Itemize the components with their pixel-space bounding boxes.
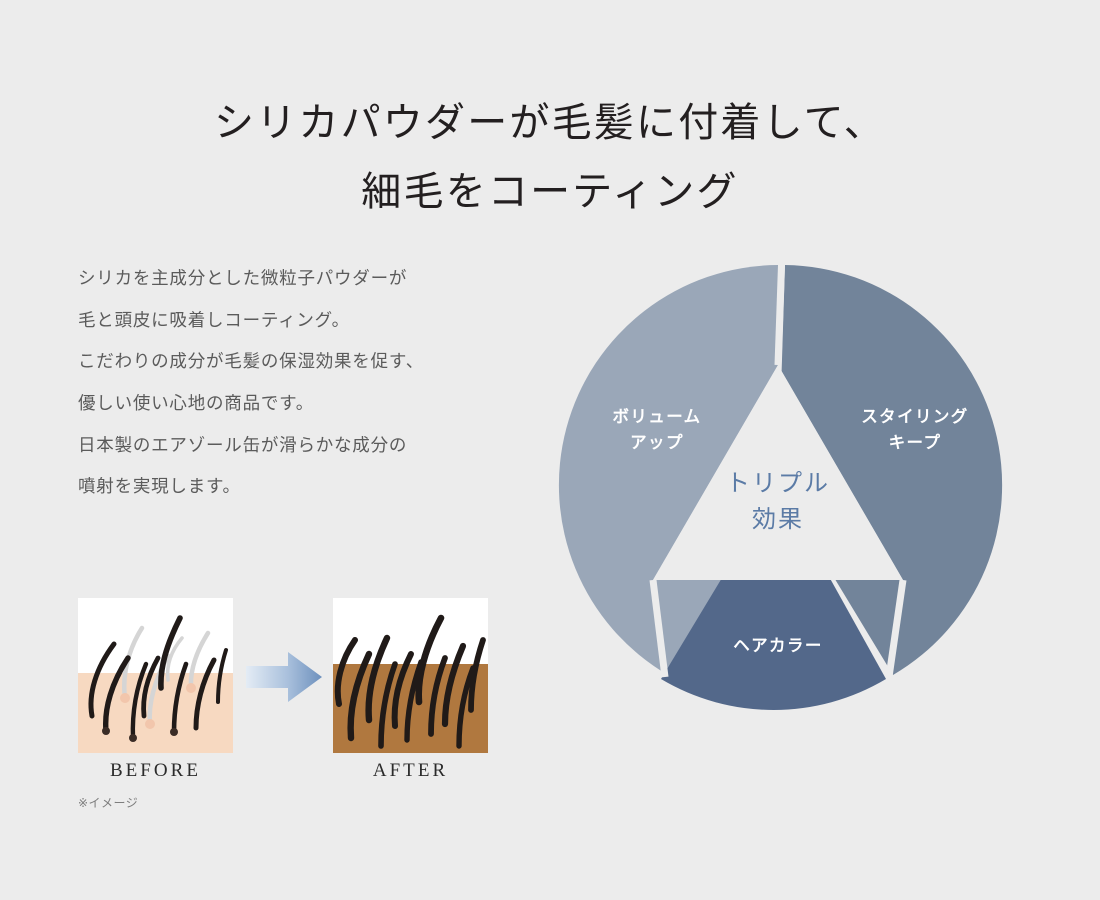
before-after-comparison: BEFORE AFTER ※イメージ — [78, 598, 518, 813]
diagram-center-label: トリプル 効果 — [693, 466, 863, 538]
segment-label-volume-up: ボリューム アップ — [572, 405, 742, 456]
description-line-4: 優しい使い心地の商品です。 — [78, 383, 518, 425]
segment-label-volume-up-line-1: ボリューム — [572, 405, 742, 431]
description-line-5: 日本製のエアゾール缶が滑らかな成分の — [78, 425, 518, 467]
segment-label-styling-keep: スタイリング キープ — [830, 405, 1000, 456]
segment-label-styling-keep-line-1: スタイリング — [830, 405, 1000, 431]
page-title-line-1: シリカパウダーが毛髪に付着して、 — [0, 89, 1100, 158]
description-line-1: シリカを主成分とした微粒子パウダーが — [78, 258, 518, 300]
description-text: シリカを主成分とした微粒子パウダーが 毛と頭皮に吸着しコーティング。 こだわりの… — [78, 258, 518, 508]
segment-label-hair-color-line-1: ヘアカラー — [693, 634, 863, 660]
description-line-3: こだわりの成分が毛髪の保湿効果を促す、 — [78, 341, 518, 383]
segment-label-volume-up-line-2: アップ — [572, 431, 742, 457]
diagram-center-label-line-2: 効果 — [693, 502, 863, 538]
segment-label-hair-color: ヘアカラー — [693, 634, 863, 660]
triple-effect-diagram: ボリューム アップ スタイリング キープ ヘアカラー トリプル 効果 — [548, 255, 1008, 715]
description-line-2: 毛と頭皮に吸着しコーティング。 — [78, 300, 518, 342]
arrow-right-icon — [246, 650, 322, 704]
before-label: BEFORE — [78, 760, 233, 782]
image-disclaimer-note: ※イメージ — [78, 794, 138, 811]
before-illustration — [78, 598, 233, 753]
diagram-center-label-line-1: トリプル — [693, 466, 863, 502]
after-label: AFTER — [333, 760, 488, 782]
page-title-line-2: 細毛をコーティング — [0, 158, 1100, 227]
description-line-6: 噴射を実現します。 — [78, 466, 518, 508]
after-illustration — [333, 598, 488, 753]
page-root: シリカパウダーが毛髪に付着して、 細毛をコーティング シリカを主成分とした微粒子… — [0, 0, 1100, 900]
segment-label-styling-keep-line-2: キープ — [830, 431, 1000, 457]
page-title: シリカパウダーが毛髪に付着して、 細毛をコーティング — [0, 89, 1100, 227]
